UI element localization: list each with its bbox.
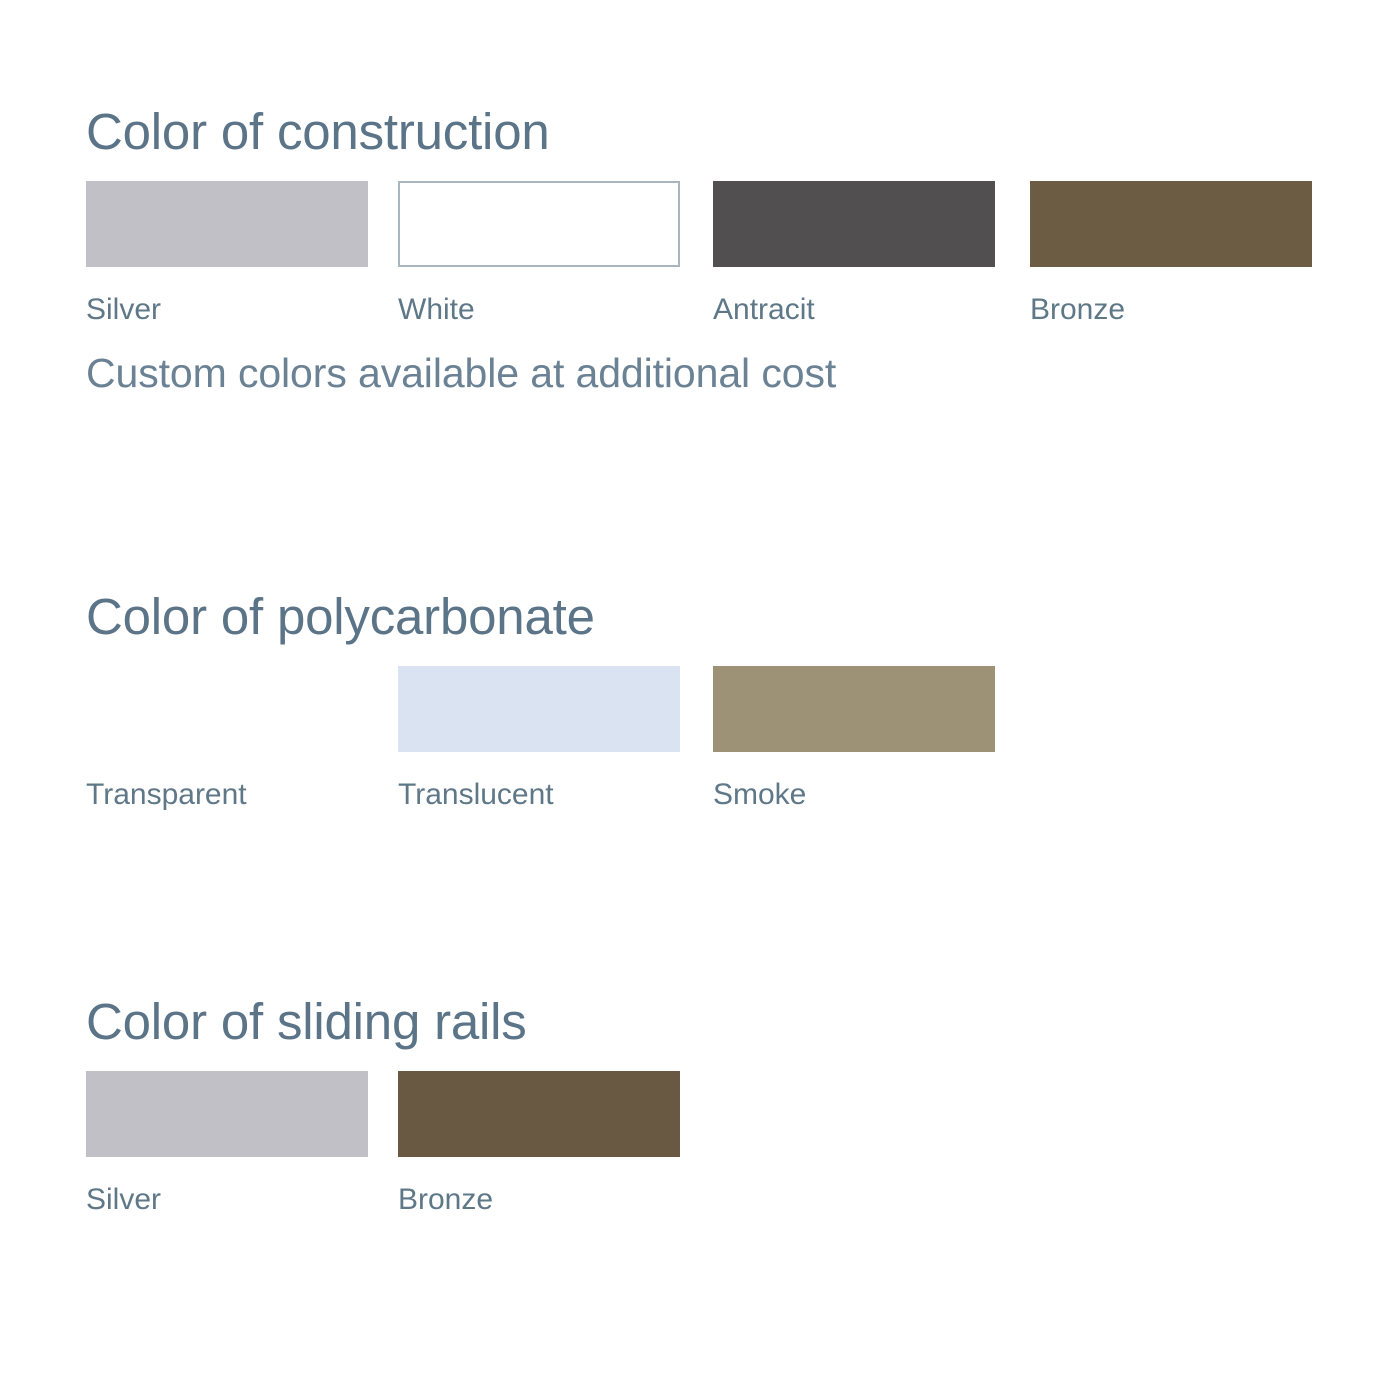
- swatch-label-rails-bronze: Bronze: [398, 1183, 680, 1216]
- swatch-row-sliding-rails: Silver Bronze: [86, 1071, 1336, 1231]
- swatch-chip-rails-bronze[interactable]: [398, 1071, 680, 1157]
- swatch-item-antracit[interactable]: Antracit: [713, 181, 995, 326]
- swatch-chip-transparent[interactable]: [86, 666, 368, 752]
- swatch-label-antracit: Antracit: [713, 293, 995, 326]
- swatch-item-bronze[interactable]: Bronze: [1030, 181, 1312, 326]
- swatch-chip-antracit[interactable]: [713, 181, 995, 267]
- swatch-item-white[interactable]: White: [398, 181, 680, 326]
- swatch-chip-rails-silver[interactable]: [86, 1071, 368, 1157]
- swatch-label-transparent: Transparent: [86, 778, 368, 811]
- section-color-of-sliding-rails: Color of sliding rails Silver Bronze: [86, 995, 1336, 1231]
- swatch-label-bronze: Bronze: [1030, 293, 1312, 326]
- swatch-row-polycarbonate: Transparent Translucent Smoke: [86, 666, 1336, 826]
- swatch-item-rails-bronze[interactable]: Bronze: [398, 1071, 680, 1216]
- custom-colors-note: Custom colors available at additional co…: [86, 351, 1336, 396]
- swatch-chip-smoke[interactable]: [713, 666, 995, 752]
- swatch-row-construction: Silver White Antracit Bronze: [86, 181, 1336, 341]
- swatch-label-silver: Silver: [86, 293, 368, 326]
- color-options-page: Color of construction Silver White Antra…: [0, 0, 1400, 1400]
- swatch-label-white: White: [398, 293, 680, 326]
- swatch-chip-bronze[interactable]: [1030, 181, 1312, 267]
- swatch-item-smoke[interactable]: Smoke: [713, 666, 995, 811]
- section-color-of-construction: Color of construction Silver White Antra…: [86, 105, 1336, 396]
- section-title-sliding-rails: Color of sliding rails: [86, 995, 1336, 1049]
- swatch-chip-silver[interactable]: [86, 181, 368, 267]
- section-title-construction: Color of construction: [86, 105, 1336, 159]
- swatch-item-translucent[interactable]: Translucent: [398, 666, 680, 811]
- section-title-polycarbonate: Color of polycarbonate: [86, 590, 1336, 644]
- swatch-label-smoke: Smoke: [713, 778, 995, 811]
- swatch-item-rails-silver[interactable]: Silver: [86, 1071, 368, 1216]
- swatch-chip-translucent[interactable]: [398, 666, 680, 752]
- section-color-of-polycarbonate: Color of polycarbonate Transparent Trans…: [86, 590, 1336, 826]
- swatch-item-transparent[interactable]: Transparent: [86, 666, 368, 811]
- swatch-label-rails-silver: Silver: [86, 1183, 368, 1216]
- swatch-label-translucent: Translucent: [398, 778, 680, 811]
- swatch-chip-white[interactable]: [398, 181, 680, 267]
- swatch-item-silver[interactable]: Silver: [86, 181, 368, 326]
